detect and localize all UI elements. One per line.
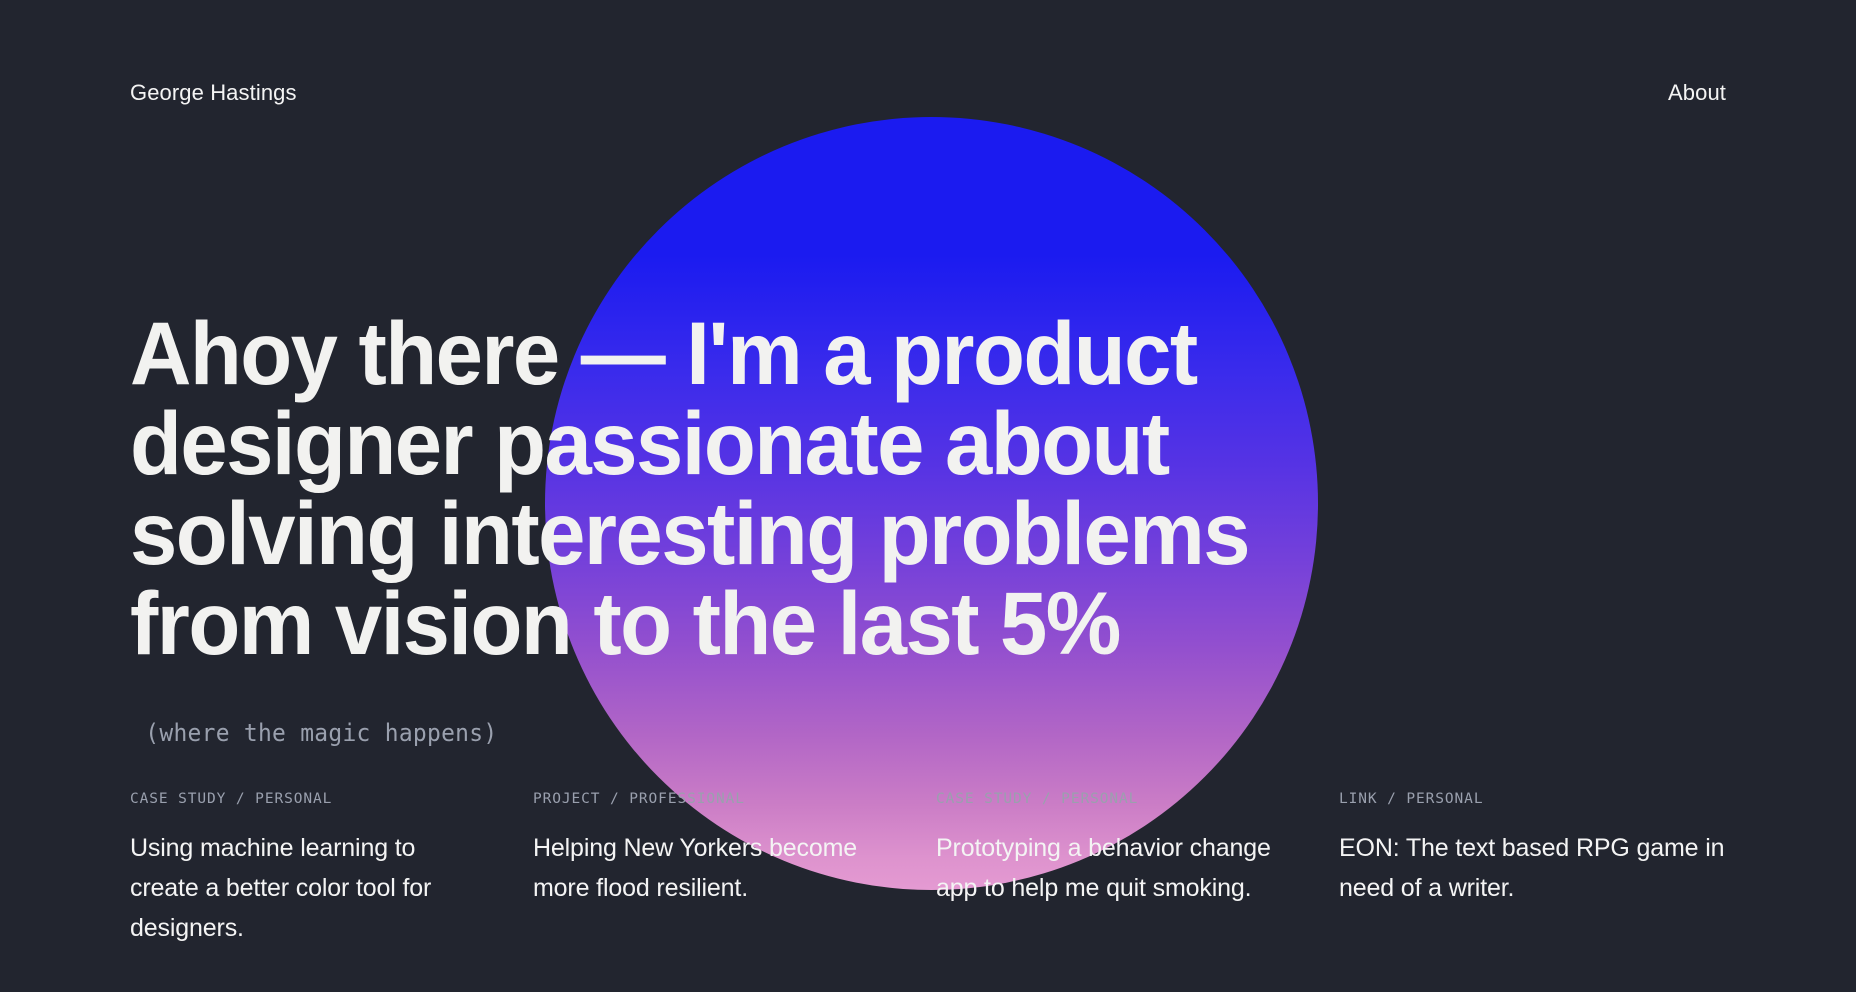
hero-heading-text: Ahoy there — I'm a product designer pass…: [130, 303, 1249, 673]
project-card[interactable]: PROJECT / PROFESSIONAL Helping New Yorke…: [533, 792, 936, 948]
project-card-meta: LINK / PERSONAL: [1339, 792, 1742, 807]
project-card[interactable]: LINK / PERSONAL EON: The text based RPG …: [1339, 792, 1742, 948]
project-card-title: Prototyping a behavior change app to hel…: [936, 828, 1281, 908]
project-card[interactable]: CASE STUDY / PERSONAL Using machine lear…: [130, 792, 533, 948]
project-card-meta: CASE STUDY / PERSONAL: [130, 792, 475, 807]
project-card-meta: PROJECT / PROFESSIONAL: [533, 792, 878, 807]
hero-section: Ahoy there — I'm a product designer pass…: [130, 308, 1750, 778]
brand-name[interactable]: George Hastings: [130, 46, 297, 104]
project-card-title: Using machine learning to create a bette…: [130, 828, 475, 948]
project-card-title: EON: The text based RPG game in need of …: [1339, 828, 1742, 908]
project-card[interactable]: CASE STUDY / PERSONAL Prototyping a beha…: [936, 792, 1339, 948]
nav-link-about[interactable]: About: [1668, 46, 1726, 104]
project-grid: CASE STUDY / PERSONAL Using machine lear…: [130, 792, 1770, 948]
site-header: George Hastings About: [0, 0, 1856, 150]
project-card-title: Helping New Yorkers become more flood re…: [533, 828, 878, 908]
project-card-meta: CASE STUDY / PERSONAL: [936, 792, 1281, 807]
hero-note: (where the magic happens): [130, 719, 497, 747]
page-title: Ahoy there — I'm a product designer pass…: [130, 308, 1400, 778]
